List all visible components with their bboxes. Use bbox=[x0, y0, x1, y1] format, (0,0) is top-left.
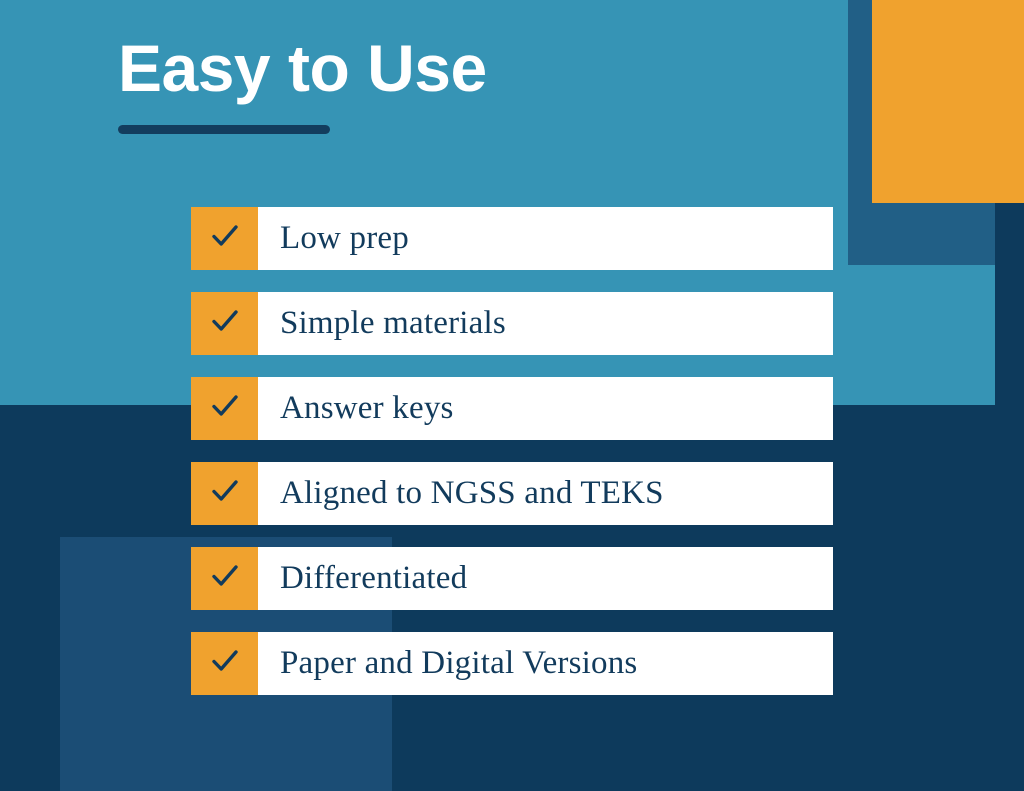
check-icon bbox=[208, 389, 242, 428]
check-icon bbox=[208, 644, 242, 683]
check-icon bbox=[208, 474, 242, 513]
feature-checklist: Low prep Simple materials Answer keys Al… bbox=[191, 207, 833, 695]
checkmark-box bbox=[191, 462, 258, 525]
check-icon bbox=[208, 304, 242, 343]
list-item-label: Paper and Digital Versions bbox=[258, 632, 833, 695]
list-item: Paper and Digital Versions bbox=[191, 632, 833, 695]
list-item: Simple materials bbox=[191, 292, 833, 355]
slide-canvas: Easy to Use Low prep Simple materials An… bbox=[0, 0, 1024, 791]
checkmark-box bbox=[191, 207, 258, 270]
background-teal-extension bbox=[848, 265, 995, 405]
page-title: Easy to Use bbox=[118, 34, 818, 103]
checkmark-box bbox=[191, 632, 258, 695]
title-underline-rule bbox=[118, 125, 330, 134]
list-item: Differentiated bbox=[191, 547, 833, 610]
list-item-label: Aligned to NGSS and TEKS bbox=[258, 462, 833, 525]
checkmark-box bbox=[191, 292, 258, 355]
checkmark-box bbox=[191, 547, 258, 610]
list-item-label: Answer keys bbox=[258, 377, 833, 440]
list-item: Answer keys bbox=[191, 377, 833, 440]
title-block: Easy to Use bbox=[118, 34, 818, 134]
list-item-label: Differentiated bbox=[258, 547, 833, 610]
list-item: Aligned to NGSS and TEKS bbox=[191, 462, 833, 525]
list-item-label: Low prep bbox=[258, 207, 833, 270]
check-icon bbox=[208, 559, 242, 598]
check-icon bbox=[208, 219, 242, 258]
list-item: Low prep bbox=[191, 207, 833, 270]
list-item-label: Simple materials bbox=[258, 292, 833, 355]
background-orange-rectangle bbox=[872, 0, 1024, 203]
checkmark-box bbox=[191, 377, 258, 440]
